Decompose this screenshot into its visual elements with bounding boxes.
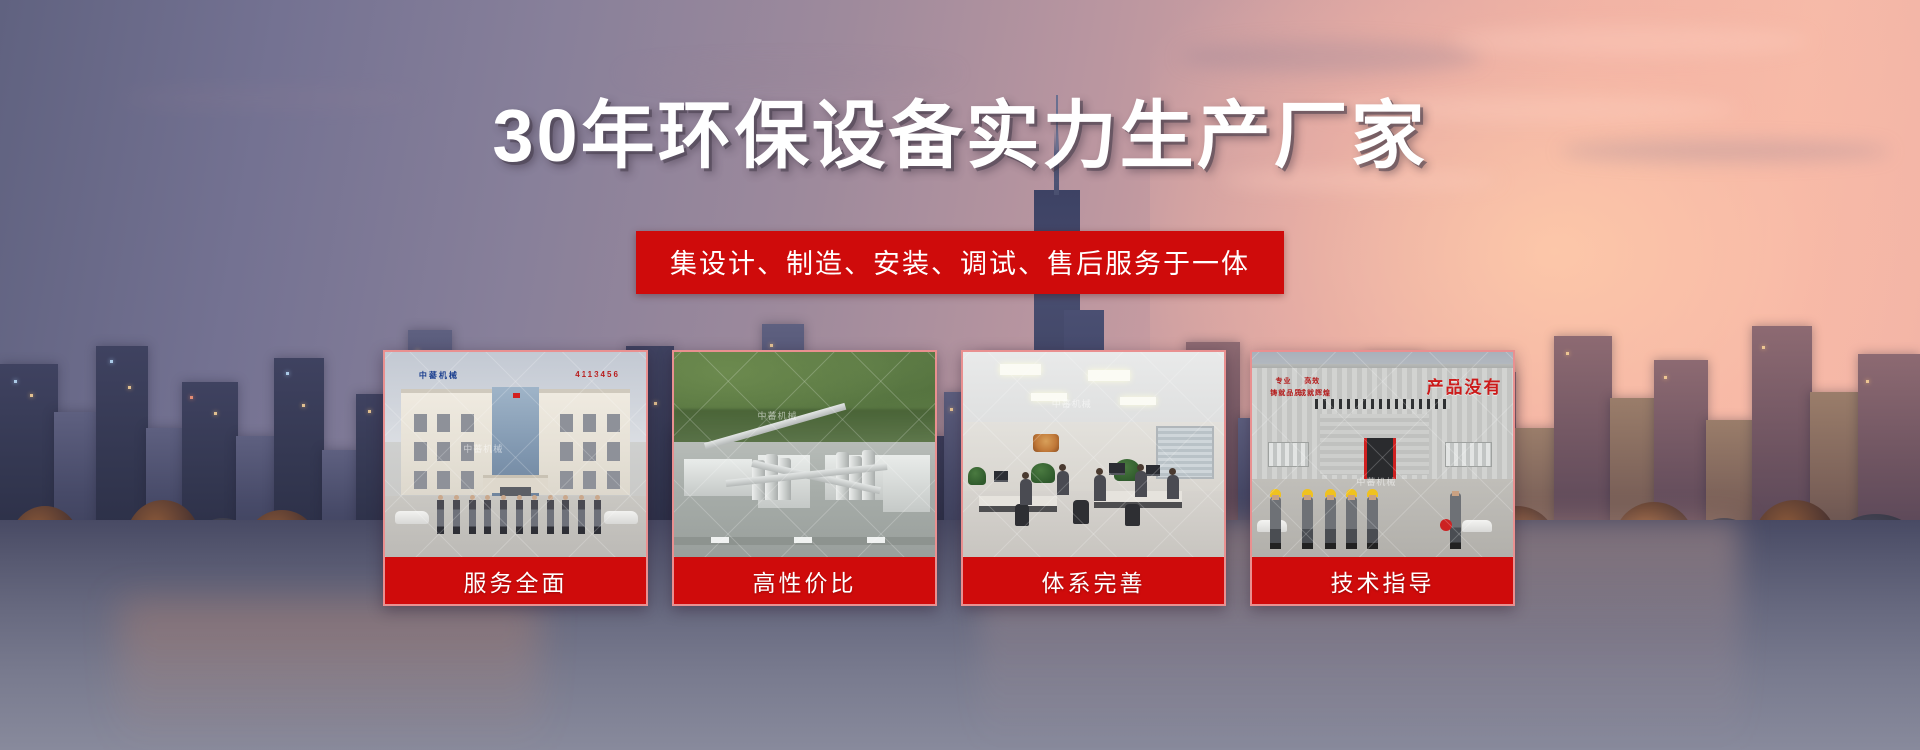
feature-card[interactable]: 中蕃机械 4113456: [383, 350, 648, 606]
workshop-slogan-text: 专业: [1275, 377, 1291, 386]
photo-watermark: 中蕃机械: [1052, 397, 1092, 410]
workshop-team-photo: 产品没有 专业 铸就品质 高效 成就辉煌: [1252, 352, 1513, 557]
card-label: 技术指导: [1252, 557, 1513, 604]
cloud-shape: [1450, 26, 1810, 56]
photo-watermark: 中蕃机械: [1356, 475, 1396, 488]
cloud-shape: [1180, 40, 1480, 74]
page-title: 30年环保设备实力生产厂家: [0, 97, 1920, 175]
feature-card-row: 中蕃机械 4113456: [383, 350, 1539, 606]
aerial-plant-photo: 中蕃机械: [674, 352, 935, 557]
hero-banner: 30年环保设备实力生产厂家 集设计、制造、安装、调试、售后服务于一体: [0, 0, 1920, 750]
photo-watermark: 中蕃机械: [463, 442, 503, 455]
workshop-slogan-text: 成就辉煌: [1299, 389, 1331, 398]
card-label: 高性价比: [674, 557, 935, 604]
card-label: 服务全面: [385, 557, 646, 604]
cloud-shape: [620, 60, 960, 86]
building-phone-text: 4113456: [575, 370, 620, 379]
workshop-slogan-text: 高效: [1304, 377, 1320, 386]
subtitle-bar: 集设计、制造、安装、调试、售后服务于一体: [636, 231, 1284, 294]
feature-card[interactable]: 中蕃机械 高性价比: [672, 350, 937, 606]
photo-watermark: 中蕃机械: [758, 409, 798, 422]
building-sign-text: 中蕃机械: [419, 370, 459, 381]
feature-card[interactable]: 中蕃机械 体系完善: [961, 350, 1226, 606]
workshop-slogan-text: 铸就品质: [1270, 389, 1302, 398]
company-headquarters-photo: 中蕃机械 4113456: [385, 352, 646, 557]
water-reflection: [120, 600, 540, 750]
card-label: 体系完善: [963, 557, 1224, 604]
office-interior-photo: 中蕃机械: [963, 352, 1224, 557]
feature-card[interactable]: 产品没有 专业 铸就品质 高效 成就辉煌: [1250, 350, 1515, 606]
workshop-banner-text: 产品没有: [1427, 373, 1503, 398]
